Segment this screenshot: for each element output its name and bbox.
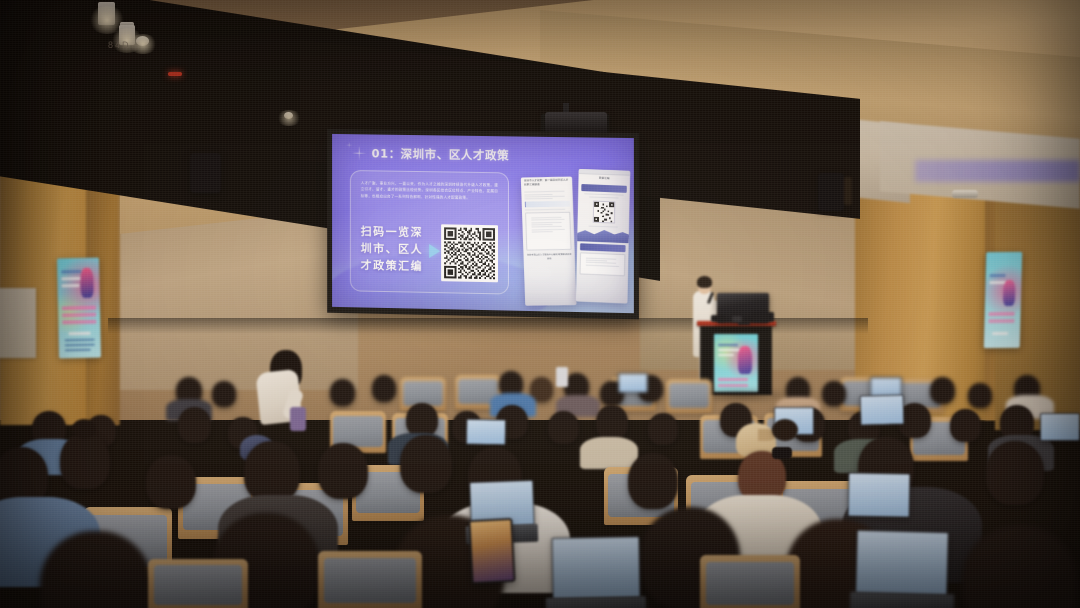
tablet-with-photo: [468, 518, 515, 584]
attendee-head: [648, 413, 678, 445]
poster-right-band: [992, 332, 1008, 335]
spotlight-4: [136, 36, 149, 46]
poster-left-band: [65, 339, 95, 342]
laptop-foreground-base: [546, 596, 646, 608]
seat-cushion: [706, 562, 794, 605]
phone-mockup-left: 深圳市人才政策：第一届深圳市区人才政策汇编速递 深圳市南山区人才服务中心编制 政…: [521, 177, 577, 306]
sparkle-small-icon: [346, 142, 353, 149]
spotlight-5: [284, 112, 293, 119]
phone-right-body-box: [580, 253, 626, 277]
slide-slogan: 扫码一览深 圳市、区人 才政策汇编: [361, 223, 423, 275]
attendee-head: [950, 409, 981, 442]
wall-poster-right: [984, 252, 1023, 348]
slide-title: 01：深圳市、区人才政策: [372, 145, 510, 163]
poster-left-band: [62, 313, 96, 318]
phone-right-line: [586, 264, 619, 266]
laptop: [618, 373, 648, 393]
attendee-head: [406, 403, 438, 437]
seat-foreground: [148, 559, 248, 608]
attendee-head: [146, 455, 196, 509]
phone-left-line: [531, 224, 553, 225]
wall-speaker-left: [190, 153, 221, 193]
laptop-foreground: [855, 530, 949, 596]
slogan-line-3: 才政策汇编: [361, 257, 423, 275]
truss-marking: 84D: [108, 40, 131, 50]
phone-right-banner-2: [580, 244, 626, 253]
presenter-hair: [697, 276, 712, 288]
attendee-head: [596, 405, 628, 440]
slide-slogan-area: 扫码一览深 圳市、区人 才政策汇编: [361, 223, 440, 275]
desk-equipment-1: [752, 312, 774, 322]
phone-left-line: [532, 229, 565, 231]
lecture-hall-scene: 84D 01：深圳市、区人才政策 人才广聚、事业方兴、一直以来，作为人才之城的深…: [0, 0, 1080, 608]
phone-right-line: [590, 196, 618, 198]
attendee-hair-clip: [772, 447, 792, 459]
projection-screen: 01：深圳市、区人才政策 人才广聚、事业方兴、一直以来，作为人才之城的深圳持续迭…: [327, 129, 639, 319]
phone-mockup-right: 政策汇编: [576, 169, 630, 304]
attendee-head: [60, 433, 110, 489]
phone-left-body-box: [525, 212, 572, 251]
laptop: [466, 419, 506, 446]
poster-left-band: [65, 349, 91, 352]
phone-left-line: [531, 219, 564, 221]
poster-left-band: [62, 306, 96, 311]
phone-right-heading: 政策汇编: [578, 174, 630, 184]
audience-area: [0, 355, 1080, 608]
slogan-line-1: 扫码一览深: [361, 223, 423, 241]
attendee-head: [212, 381, 236, 407]
attendee-head: [628, 453, 678, 509]
phone-left-line: [531, 221, 562, 223]
poster-right-figure: [1003, 280, 1016, 306]
phone-left-line: [524, 191, 564, 193]
phone-left-heading: 深圳市人才政策：第一届深圳市区人才政策汇编速递: [521, 177, 573, 191]
desk-equipment-3: [732, 316, 742, 322]
spotlight-1: [98, 2, 115, 25]
laptop-foreground: [551, 536, 640, 600]
wall-speaker-right: [818, 173, 844, 211]
phone-right-line: [589, 225, 617, 227]
seat-cushion: [154, 565, 242, 605]
qr-code-graphic: [444, 227, 495, 279]
equipment-indicator-led: [168, 72, 182, 76]
attendee-head: [968, 383, 992, 408]
standing-attendee-bag: [290, 407, 306, 431]
wall-speaker-right-bracket: [844, 177, 852, 205]
attendee-head: [400, 435, 452, 493]
phone-left-line: [531, 217, 562, 219]
slide-surface: 01：深圳市、区人才政策 人才广聚、事业方兴、一直以来，作为人才之城的深圳持续迭…: [332, 134, 634, 313]
poster-left-band: [65, 344, 95, 347]
laptop: [860, 394, 905, 425]
attendee-shoulders: [580, 437, 638, 469]
phone-left-line: [525, 209, 565, 211]
phone-left-line: [524, 194, 552, 196]
phone-right-banner: [581, 185, 627, 194]
attendee-head: [372, 375, 396, 402]
poster-right-band: [990, 274, 1006, 277]
slide-title-row: 01：深圳市、区人才政策: [352, 145, 509, 163]
raised-phone: [556, 367, 568, 387]
slide-body-paragraph: 人才广聚、事业方兴、一直以来，作为人才之城的深圳持续迭代升级人才政策。建立引才、…: [361, 180, 498, 201]
slogan-line-2: 圳市、区人: [361, 240, 423, 258]
phone-left-line: [525, 198, 553, 200]
play-triangle-icon: [429, 244, 440, 258]
phone-left-callout: [525, 201, 570, 208]
attendee-head: [330, 379, 355, 406]
phone-right-qr-graphic: [593, 201, 614, 222]
poster-left-figure: [80, 268, 94, 298]
attendee-hair-bun: [72, 419, 96, 439]
ceiling-light-fixture-right: [952, 190, 978, 198]
desk-equipment-2: [711, 315, 725, 322]
poster-left-band: [69, 332, 91, 335]
wall-poster-left: [57, 258, 101, 359]
poster-left-band: [61, 270, 81, 273]
slide-content-card: 人才广聚、事业方兴、一直以来，作为人才之城的深圳持续迭代升级人才政策。建立引才、…: [350, 170, 509, 295]
attendee-head: [318, 443, 368, 499]
attendee-head: [986, 441, 1044, 505]
poster-right-band: [988, 319, 1014, 323]
seat-cushion: [669, 383, 709, 408]
sparkle-icon: [352, 146, 367, 161]
attendee-head: [822, 381, 846, 406]
seat-foreground: [318, 551, 422, 608]
qr-code-icon: [441, 224, 498, 282]
laptop: [1040, 413, 1080, 441]
attendee-head: [930, 377, 955, 404]
phone-left-line: [532, 226, 563, 228]
lectern-poster-band: [718, 344, 738, 346]
attendee-head: [548, 411, 579, 444]
phone-left-line: [532, 231, 554, 232]
laptop: [848, 472, 911, 517]
seat-cushion: [324, 558, 416, 602]
poster-right-band: [989, 312, 1015, 316]
phone-left-line: [524, 196, 564, 198]
attendee-hair-bun: [772, 419, 798, 441]
ceiling-blue-spill: [915, 160, 1080, 182]
attendee-head: [178, 407, 211, 443]
laptop-foreground-base: [850, 592, 955, 608]
phone-right-qr-icon: [592, 200, 615, 223]
seat: [666, 379, 712, 413]
attendee-head: [244, 441, 300, 503]
poster-left-band: [62, 284, 80, 287]
phone-left-footer: 深圳市南山区人才服务中心编制 政策解读咨询热线: [523, 252, 575, 264]
wall-whiteboard: [0, 288, 36, 358]
poster-left-band: [62, 320, 96, 325]
phone-right-wave-decor: [577, 227, 629, 243]
seat-foreground: [700, 555, 800, 608]
